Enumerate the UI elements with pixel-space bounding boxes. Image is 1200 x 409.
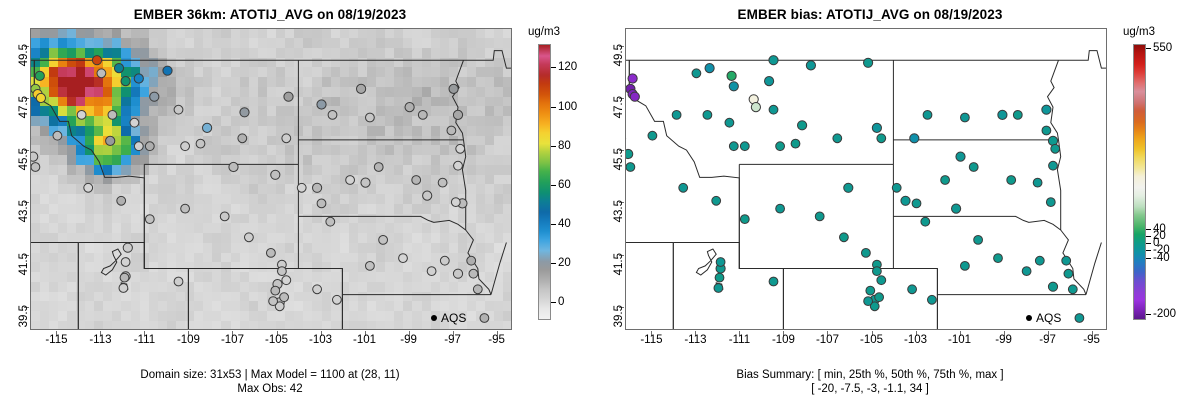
aqs-site-marker[interactable] — [844, 183, 853, 192]
colorbar-tick — [551, 302, 556, 303]
aqs-site-marker[interactable] — [705, 64, 714, 73]
aqs-site-marker[interactable] — [467, 256, 476, 265]
caption-bias-line1: Bias Summary: [ min, 25th %, 50th %, 75t… — [600, 368, 1140, 382]
aqs-site-marker[interactable] — [961, 262, 970, 271]
aqs-site-marker[interactable] — [245, 233, 254, 242]
aqs-site-marker[interactable] — [440, 256, 449, 265]
state-border — [342, 295, 491, 330]
colorbar-tick — [551, 146, 556, 147]
aqs-site-marker[interactable] — [626, 149, 633, 158]
aqs-site-marker[interactable] — [729, 142, 738, 151]
map-vector-bias — [626, 29, 1107, 330]
colorbar-tick-label: 20 — [558, 257, 571, 269]
aqs-site-marker[interactable] — [134, 74, 143, 83]
state-border — [31, 51, 512, 69]
aqs-site-marker[interactable] — [769, 277, 778, 286]
aqs-site-marker[interactable] — [974, 236, 983, 245]
aqs-site-marker[interactable] — [412, 176, 421, 185]
aqs-site-marker[interactable] — [405, 103, 414, 112]
aqs-site-marker[interactable] — [453, 269, 462, 278]
aqs-site-marker[interactable] — [1035, 256, 1044, 265]
state-border — [1057, 140, 1060, 230]
aqs-site-marker[interactable] — [1013, 111, 1022, 120]
aqs-site-marker[interactable] — [473, 285, 482, 294]
aqs-site-marker[interactable] — [163, 66, 172, 75]
aqs-site-marker[interactable] — [108, 111, 117, 120]
aqs-site-marker[interactable] — [282, 276, 291, 285]
aqs-site-marker[interactable] — [447, 126, 456, 135]
aqs-site-marker[interactable] — [628, 74, 637, 83]
aqs-site-marker[interactable] — [374, 163, 383, 172]
aqs-site-marker[interactable] — [928, 295, 937, 304]
colorbar-tick — [1146, 250, 1151, 251]
y-tick-label: 41.5 — [18, 253, 30, 313]
state-border — [783, 269, 937, 331]
aqs-site-marker[interactable] — [313, 285, 322, 294]
colorbar-tick — [551, 185, 556, 186]
aqs-site-marker[interactable] — [379, 236, 388, 245]
colorbar-tick-label: 120 — [558, 61, 577, 73]
map-plot-bias[interactable]: AQS — [625, 28, 1107, 330]
aqs-site-marker[interactable] — [31, 163, 40, 172]
panel-model: EMBER 36km: ATOTIJ_AVG on 08/19/2023 AQS… — [0, 0, 600, 409]
aqs-site-marker[interactable] — [941, 176, 950, 185]
aqs-site-marker[interactable] — [454, 161, 463, 170]
aqs-site-marker[interactable] — [864, 58, 873, 67]
y-tick-label: 45.5 — [613, 148, 625, 208]
aqs-site-marker[interactable] — [751, 103, 760, 112]
map-overlay-bias — [626, 29, 1106, 329]
aqs-site-marker[interactable] — [456, 144, 465, 153]
aqs-site-marker[interactable] — [174, 277, 183, 286]
aqs-site-marker[interactable] — [267, 249, 276, 258]
aqs-site-marker[interactable] — [769, 56, 778, 65]
colorbar-tick — [1146, 243, 1151, 244]
colorbar-tick — [551, 67, 556, 68]
aqs-site-marker[interactable] — [672, 111, 681, 120]
aqs-legend-label: AQS — [1036, 311, 1061, 325]
colorbar-gradient — [538, 44, 551, 320]
aqs-site-marker[interactable] — [630, 92, 639, 101]
y-tick-label: 49.5 — [18, 44, 30, 104]
aqs-site-marker[interactable] — [714, 284, 723, 293]
colorbar-tick-label: 0 — [558, 296, 564, 308]
aqs-site-marker[interactable] — [1022, 267, 1031, 276]
figure-root: EMBER 36km: ATOTIJ_AVG on 08/19/2023 AQS… — [0, 0, 1200, 409]
y-tick-label: 47.5 — [18, 96, 30, 156]
aqs-site-marker[interactable] — [961, 113, 970, 122]
panel-title-bias: EMBER bias: ATOTIJ_AVG on 08/19/2023 — [600, 7, 1140, 22]
aqs-site-marker[interactable] — [229, 162, 238, 171]
aqs-site-marker[interactable] — [278, 267, 287, 276]
x-tick-label: -101 — [948, 334, 971, 346]
x-tick-label: -111 — [134, 334, 155, 346]
aqs-site-marker[interactable] — [238, 134, 247, 143]
x-tick-label: -107 — [816, 334, 839, 346]
aqs-site-marker[interactable] — [862, 249, 871, 258]
aqs-site-marker[interactable] — [297, 183, 306, 192]
aqs-site-marker[interactable] — [692, 69, 701, 78]
aqs-site-marker[interactable] — [326, 217, 335, 226]
aqs-site-marker[interactable] — [727, 71, 736, 80]
map-plot-model[interactable]: AQS — [30, 28, 512, 330]
aqs-site-marker[interactable] — [119, 284, 128, 293]
y-tick-label: 47.5 — [613, 96, 625, 156]
aqs-site-marker[interactable] — [333, 295, 342, 304]
aqs-site-marker[interactable] — [648, 131, 657, 140]
aqs-site-marker[interactable] — [271, 286, 280, 295]
x-tick-label: -97 — [1039, 334, 1056, 346]
x-tick-label: -105 — [860, 334, 883, 346]
aqs-site-marker[interactable] — [626, 163, 635, 172]
colorbar-tick — [1146, 314, 1151, 315]
aqs-site-marker[interactable] — [769, 105, 778, 114]
x-tick-label: -103 — [904, 334, 927, 346]
aqs-site-marker[interactable] — [1033, 178, 1042, 187]
colorbar-gradient — [1133, 44, 1146, 320]
aqs-site-marker[interactable] — [196, 139, 205, 148]
aqs-legend-label: AQS — [441, 311, 466, 325]
state-border — [893, 216, 1060, 230]
aqs-site-marker[interactable] — [1048, 282, 1057, 291]
aqs-site-marker[interactable] — [1062, 256, 1071, 265]
aqs-site-marker[interactable] — [114, 64, 123, 73]
aqs-site-marker[interactable] — [427, 267, 436, 276]
map-overlay-model — [31, 29, 511, 329]
aqs-site-marker[interactable] — [806, 61, 815, 70]
caption-bias-line2: [ -20, -7.5, -3, -1.1, 34 ] — [600, 382, 1140, 396]
colorbar-tick-label: 80 — [558, 140, 571, 152]
aqs-site-marker[interactable] — [134, 142, 143, 151]
x-tick-label: -97 — [444, 334, 461, 346]
aqs-site-marker[interactable] — [284, 92, 293, 101]
lake-outline — [696, 249, 716, 275]
aqs-site-marker[interactable] — [145, 142, 154, 151]
aqs-site-marker[interactable] — [765, 77, 774, 86]
aqs-site-marker[interactable] — [203, 123, 212, 132]
aqs-site-marker[interactable] — [423, 191, 432, 200]
aqs-site-marker[interactable] — [776, 142, 785, 151]
aqs-site-marker[interactable] — [833, 134, 842, 143]
aqs-site-marker[interactable] — [864, 297, 873, 306]
aqs-site-marker[interactable] — [956, 152, 965, 161]
aqs-site-marker[interactable] — [921, 217, 930, 226]
aqs-site-marker[interactable] — [480, 314, 489, 323]
aqs-site-marker[interactable] — [328, 111, 337, 120]
aqs-site-marker[interactable] — [729, 82, 738, 91]
colorbar-tick — [1146, 258, 1151, 259]
colorbar-tick-label: 550 — [1153, 42, 1172, 54]
aqs-site-marker[interactable] — [313, 183, 322, 192]
y-tick-label: 43.5 — [18, 200, 30, 260]
aqs-site-marker[interactable] — [712, 196, 721, 205]
colorbar-tick — [1146, 236, 1151, 237]
aqs-site-marker[interactable] — [877, 134, 886, 143]
aqs-site-marker[interactable] — [716, 258, 725, 267]
aqs-site-marker[interactable] — [776, 204, 785, 213]
x-tick-label: -107 — [221, 334, 244, 346]
colorbar-tick-label: 40 — [1153, 223, 1166, 235]
colorbar-tick — [1146, 48, 1151, 49]
aqs-site-marker[interactable] — [469, 269, 478, 278]
x-tick-label: -115 — [640, 334, 662, 346]
colorbar-tick — [551, 107, 556, 108]
aqs-site-marker[interactable] — [120, 273, 129, 282]
aqs-dot-icon — [431, 315, 437, 321]
state-border — [629, 60, 739, 268]
aqs-site-marker[interactable] — [92, 56, 101, 65]
colorbar-tick-label: 100 — [558, 101, 577, 113]
aqs-site-marker[interactable] — [877, 276, 886, 285]
aqs-site-marker[interactable] — [740, 215, 749, 224]
aqs-site-marker[interactable] — [1007, 176, 1016, 185]
aqs-site-marker[interactable] — [994, 254, 1003, 263]
aqs-site-marker[interactable] — [1049, 161, 1058, 170]
aqs-site-marker[interactable] — [875, 293, 884, 302]
x-tick-label: -111 — [729, 334, 750, 346]
y-tick-label: 45.5 — [18, 148, 30, 208]
x-tick-label: -109 — [177, 334, 200, 346]
aqs-site-marker[interactable] — [35, 71, 44, 80]
colorbar-unit: ug/m3 — [528, 26, 560, 38]
aqs-site-marker[interactable] — [84, 183, 93, 192]
aqs-site-marker[interactable] — [1068, 285, 1077, 294]
state-border — [673, 243, 783, 331]
state-border — [298, 216, 465, 230]
x-tick-label: -113 — [684, 334, 706, 346]
aqs-site-marker[interactable] — [399, 254, 408, 263]
state-border — [937, 295, 1086, 330]
state-border — [78, 243, 188, 331]
x-tick-label: -95 — [1083, 334, 1100, 346]
aqs-site-marker[interactable] — [703, 111, 712, 120]
aqs-site-marker[interactable] — [715, 273, 724, 282]
aqs-site-marker[interactable] — [317, 100, 326, 109]
aqs-site-marker[interactable] — [923, 111, 932, 120]
aqs-site-marker[interactable] — [123, 243, 132, 252]
aqs-site-marker[interactable] — [121, 77, 130, 86]
state-border — [491, 243, 506, 295]
aqs-site-marker[interactable] — [77, 111, 86, 120]
aqs-site-marker[interactable] — [952, 204, 961, 213]
aqs-site-marker[interactable] — [1042, 105, 1051, 114]
aqs-site-marker[interactable] — [1046, 198, 1055, 207]
state-border — [34, 60, 144, 268]
aqs-site-marker[interactable] — [873, 267, 882, 276]
aqs-site-marker[interactable] — [418, 111, 427, 120]
aqs-site-marker[interactable] — [53, 131, 62, 140]
x-tick-label: -105 — [265, 334, 288, 346]
aqs-site-marker[interactable] — [174, 105, 183, 114]
aqs-site-marker[interactable] — [449, 84, 458, 93]
aqs-site-marker[interactable] — [366, 113, 375, 122]
aqs-site-marker[interactable] — [1075, 314, 1084, 323]
state-border — [462, 140, 465, 230]
aqs-site-marker[interactable] — [130, 118, 139, 127]
aqs-site-marker[interactable] — [998, 110, 1007, 119]
aqs-site-marker[interactable] — [740, 142, 749, 151]
aqs-site-marker[interactable] — [280, 293, 289, 302]
state-border — [188, 269, 342, 331]
y-tick-label: 39.5 — [18, 305, 30, 365]
aqs-site-marker[interactable] — [36, 93, 45, 102]
x-tick-label: -99 — [400, 334, 417, 346]
aqs-site-marker[interactable] — [910, 134, 919, 143]
panel-title-model: EMBER 36km: ATOTIJ_AVG on 08/19/2023 — [0, 7, 540, 22]
x-tick-label: -113 — [89, 334, 111, 346]
caption-model-line2: Max Obs: 42 — [0, 382, 540, 396]
aqs-site-marker[interactable] — [117, 196, 126, 205]
aqs-site-marker[interactable] — [150, 92, 159, 101]
x-tick-label: -115 — [45, 334, 67, 346]
aqs-site-marker[interactable] — [97, 69, 106, 78]
aqs-site-marker[interactable] — [438, 178, 447, 187]
aqs-site-marker[interactable] — [872, 123, 881, 132]
aqs-site-marker[interactable] — [725, 118, 734, 127]
colorbar-tick-label: -200 — [1153, 308, 1176, 320]
state-border — [893, 269, 1086, 295]
aqs-site-marker[interactable] — [1042, 126, 1051, 135]
aqs-site-marker[interactable] — [121, 258, 130, 267]
aqs-site-marker[interactable] — [240, 108, 249, 117]
aqs-site-marker[interactable] — [815, 212, 824, 221]
colorbar-unit: ug/m3 — [1123, 26, 1155, 38]
aqs-site-marker[interactable] — [271, 170, 280, 179]
state-border — [1086, 243, 1101, 295]
aqs-site-marker[interactable] — [269, 297, 278, 306]
colorbar-tick-label: 40 — [558, 218, 571, 230]
aqs-site-marker[interactable] — [106, 136, 115, 145]
aqs-site-marker[interactable] — [31, 152, 38, 161]
aqs-site-marker[interactable] — [791, 139, 800, 148]
caption-model-line1: Domain size: 31x53 | Max Model = 1100 at… — [0, 368, 540, 382]
aqs-site-marker[interactable] — [679, 183, 688, 192]
aqs-site-marker[interactable] — [840, 233, 849, 242]
aqs-site-marker[interactable] — [181, 142, 190, 151]
aqs-site-marker[interactable] — [282, 134, 291, 143]
x-tick-label: -103 — [309, 334, 332, 346]
aqs-site-marker[interactable] — [1064, 269, 1073, 278]
aqs-site-marker[interactable] — [798, 121, 807, 130]
aqs-dot-icon — [1026, 315, 1032, 321]
y-tick-label: 39.5 — [613, 305, 625, 365]
aqs-site-marker[interactable] — [145, 215, 154, 224]
aqs-site-marker[interactable] — [317, 199, 326, 208]
y-tick-label: 43.5 — [613, 200, 625, 260]
y-tick-label: 49.5 — [613, 44, 625, 104]
aqs-site-marker[interactable] — [357, 84, 366, 93]
x-tick-label: -95 — [488, 334, 505, 346]
aqs-site-marker[interactable] — [1051, 144, 1060, 153]
colorbar-tick — [1146, 229, 1151, 230]
aqs-site-marker[interactable] — [346, 176, 355, 185]
colorbar-tick — [551, 224, 556, 225]
aqs-site-marker[interactable] — [912, 199, 921, 208]
x-tick-label: -99 — [995, 334, 1012, 346]
aqs-site-marker[interactable] — [969, 163, 978, 172]
aqs-site-marker[interactable] — [181, 204, 190, 213]
aqs-site-marker[interactable] — [451, 198, 460, 207]
aqs-site-marker[interactable] — [220, 212, 229, 221]
panel-bias: EMBER bias: ATOTIJ_AVG on 08/19/2023 AQS… — [600, 0, 1200, 409]
aqs-site-marker[interactable] — [361, 178, 370, 187]
x-tick-label: -109 — [772, 334, 795, 346]
aqs-site-marker[interactable] — [453, 110, 462, 119]
y-tick-label: 41.5 — [613, 253, 625, 313]
aqs-legend-model: AQS — [431, 311, 466, 325]
map-vector-model — [31, 29, 512, 330]
aqs-site-marker[interactable] — [866, 286, 875, 295]
aqs-legend-bias: AQS — [1026, 311, 1061, 325]
colorbar-tick — [551, 263, 556, 264]
aqs-site-marker[interactable] — [366, 262, 375, 271]
aqs-site-marker[interactable] — [892, 183, 901, 192]
x-tick-label: -101 — [353, 334, 376, 346]
lake-outline — [101, 249, 121, 275]
colorbar-tick-label: 60 — [558, 179, 571, 191]
aqs-site-marker[interactable] — [901, 196, 910, 205]
aqs-site-marker[interactable] — [908, 285, 917, 294]
